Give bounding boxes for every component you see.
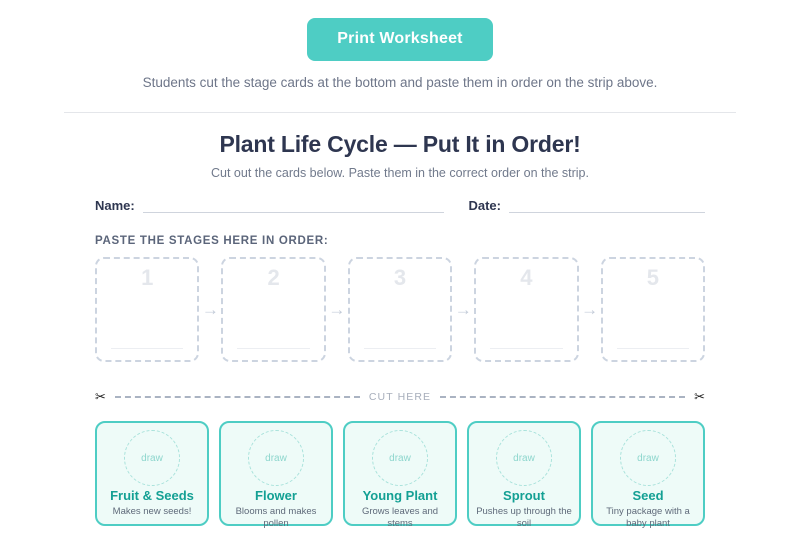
- stage-card-description: Blooms and makes pollen: [221, 506, 331, 530]
- slot-write-line: [237, 348, 309, 349]
- stage-card-sprout[interactable]: draw Sprout Pushes up through the soil: [467, 421, 581, 526]
- worksheet-title: Plant Life Cycle — Put It in Order!: [95, 131, 705, 158]
- cut-dash-left: [115, 396, 360, 398]
- stage-card-flower[interactable]: draw Flower Blooms and makes pollen: [219, 421, 333, 526]
- slot-number: 2: [223, 265, 323, 291]
- cut-dash-right: [440, 396, 685, 398]
- slot-write-line: [490, 348, 562, 349]
- draw-circle-icon[interactable]: draw: [248, 430, 304, 486]
- stage-card-title: Flower: [255, 489, 297, 504]
- paste-slot-1[interactable]: 1: [95, 257, 199, 362]
- toolbar-hint-text: Students cut the stage cards at the bott…: [0, 75, 800, 90]
- stage-card-seed[interactable]: draw Seed Tiny package with a baby plant: [591, 421, 705, 526]
- draw-circle-icon[interactable]: draw: [496, 430, 552, 486]
- scissors-icon-right: ✂: [694, 390, 705, 403]
- paste-slot-5[interactable]: 5: [601, 257, 705, 362]
- paste-slot-2[interactable]: 2: [221, 257, 325, 362]
- arrow-icon: →: [326, 257, 348, 362]
- slot-number: 5: [603, 265, 703, 291]
- name-input-line[interactable]: [143, 199, 445, 213]
- worksheet-sheet: Plant Life Cycle — Put It in Order! Cut …: [95, 113, 705, 526]
- stage-card-title: Young Plant: [363, 489, 438, 504]
- scissors-icon-left: ✂: [95, 390, 106, 403]
- slot-number: 4: [476, 265, 576, 291]
- stage-card-title: Seed: [632, 489, 663, 504]
- cut-here-row: ✂ CUT HERE ✂: [95, 390, 705, 403]
- stage-card-description: Grows leaves and stems: [345, 506, 455, 530]
- paste-strip: 1 → 2 → 3 → 4 → 5: [95, 257, 705, 362]
- stage-card-description: Makes new seeds!: [107, 506, 198, 518]
- arrow-icon: →: [579, 257, 601, 362]
- slot-number: 3: [350, 265, 450, 291]
- print-worksheet-button[interactable]: Print Worksheet: [307, 18, 492, 61]
- date-input-line[interactable]: [509, 199, 705, 213]
- stage-card-fruit-and-seeds[interactable]: draw Fruit & Seeds Makes new seeds!: [95, 421, 209, 526]
- name-label: Name:: [95, 198, 135, 213]
- worksheet-subtitle: Cut out the cards below. Paste them in t…: [95, 166, 705, 180]
- arrow-icon: →: [199, 257, 221, 362]
- draw-circle-icon[interactable]: draw: [372, 430, 428, 486]
- stage-card-description: Tiny package with a baby plant: [593, 506, 703, 530]
- stage-card-title: Fruit & Seeds: [110, 489, 194, 504]
- stage-card-description: Pushes up through the soil: [469, 506, 579, 530]
- cut-here-label: CUT HERE: [369, 391, 431, 403]
- stage-cards: draw Fruit & Seeds Makes new seeds! draw…: [95, 421, 705, 526]
- slot-write-line: [364, 348, 436, 349]
- slot-write-line: [111, 348, 183, 349]
- draw-circle-icon[interactable]: draw: [124, 430, 180, 486]
- paste-slot-3[interactable]: 3: [348, 257, 452, 362]
- date-label: Date:: [468, 198, 501, 213]
- stage-card-young-plant[interactable]: draw Young Plant Grows leaves and stems: [343, 421, 457, 526]
- paste-slot-4[interactable]: 4: [474, 257, 578, 362]
- slot-number: 1: [97, 265, 197, 291]
- toolbar: Print Worksheet Students cut the stage c…: [0, 0, 800, 90]
- slot-write-line: [617, 348, 689, 349]
- name-date-row: Name: Date:: [95, 198, 705, 213]
- paste-strip-label: PASTE THE STAGES HERE IN ORDER:: [95, 235, 705, 247]
- draw-circle-icon[interactable]: draw: [620, 430, 676, 486]
- arrow-icon: →: [452, 257, 474, 362]
- stage-card-title: Sprout: [503, 489, 545, 504]
